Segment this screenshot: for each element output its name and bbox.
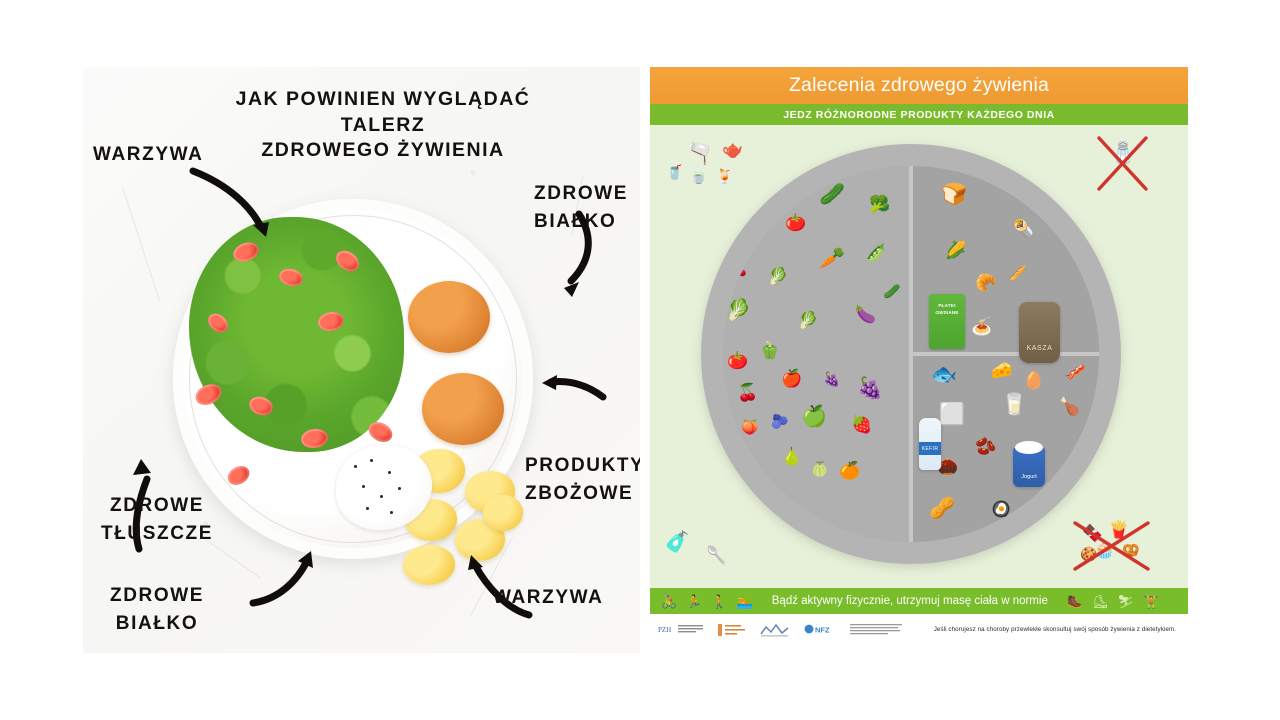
salt-shaker-icon-crossed: 🧂 [1102, 137, 1144, 191]
chart-logo [760, 623, 790, 637]
food-fish: 🐟 [931, 364, 957, 385]
svg-text:NFZ: NFZ [815, 626, 830, 635]
nordic-walking-icon: 🚶 [711, 595, 727, 608]
eu-program-logo [850, 623, 904, 636]
poster-body: 🫗 🫖 🥤 🍵 🍹 🧂 🧴 🥄 🍫 [650, 125, 1188, 588]
food-roll: 🥖 [1009, 266, 1026, 280]
food-meat: 🥓 [1065, 364, 1086, 381]
arrow-protein-bottom [253, 561, 307, 603]
food-strawberry: 🍓 [851, 416, 872, 433]
runner-icon: 🏃 [686, 595, 702, 608]
plate-divider-horizontal [911, 352, 1099, 356]
yogurt-tub: Jogurt [1013, 448, 1045, 487]
screenshot-root: JAK POWINIEN WYGLĄDAĆ TALERZ ZDROWEGO ŻY… [0, 0, 1280, 720]
food-carrot: 🥕 [819, 248, 845, 269]
food-cucumber: 🥒 [819, 184, 845, 205]
food-beetroot: 🫐 [737, 228, 758, 245]
label-vegetables-top: WARZYWA [93, 142, 203, 167]
food-cheese: 🧀 [991, 362, 1012, 379]
food-tomato: 🍅 [785, 214, 806, 231]
plate-half-vegetables-fruits [723, 166, 911, 542]
food-blueberries: 🫐 [771, 414, 788, 428]
label-vegetables-bottom: WARZYWA [493, 585, 603, 610]
food-eggplant: 🍆 [855, 306, 876, 323]
nfz-logo: NFZ [804, 623, 836, 636]
ministry-logo [718, 623, 746, 637]
food-bun: 🥐 [975, 274, 996, 291]
food-beans: 🫘 [975, 438, 996, 455]
label-fats-left: ZDROWE TŁUSZCZE [101, 492, 213, 547]
arrowhead [133, 459, 151, 475]
food-corn: 🌽 [945, 242, 966, 259]
arrow-grains-right [551, 382, 603, 397]
food-curd-cheese: ⬜ [939, 404, 965, 425]
grain-box-oatflakes: PŁATKI OWSIANE [929, 294, 965, 349]
food-eggs: 🥚 [1023, 372, 1044, 389]
healthy-plate-photo: JAK POWINIEN WYGLĄDAĆ TALERZ ZDROWEGO ŻY… [83, 67, 640, 653]
svg-text:PZH: PZH [658, 626, 671, 634]
cyclist-icon: 🚴 [661, 595, 677, 608]
footer-note: Jeśli chorujesz na choroby przewlekłe sk… [934, 626, 1180, 633]
arrowhead [253, 222, 269, 237]
label-protein-bottom: ZDROWE BIAŁKO [110, 582, 204, 637]
label-grains-right: PRODUKTY ZBOŻOWE [525, 452, 640, 507]
grain-sack-kasza: KASZA [1019, 302, 1060, 363]
activity-icons-right: 🥾 ⛸ ⛷ 🏋 [1067, 595, 1159, 608]
food-grapes: 🍇 [857, 378, 883, 399]
food-broccoli: 🥬 [767, 268, 788, 285]
food-cabbage: 🥬 [725, 300, 751, 321]
food-bread: 🍞 [941, 184, 967, 205]
arrowhead [542, 375, 557, 390]
activity-bar-text: Bądź aktywny fizycznie, utrzymuj masę ci… [772, 595, 1048, 607]
swimmer-icon: 🏊 [737, 595, 753, 608]
arrow-vegetables-top [193, 171, 261, 227]
food-walnuts: 🥜 [929, 498, 955, 519]
food-pasta-whole: 🌯 [1013, 220, 1034, 237]
food-radish: 🍒 [731, 262, 748, 276]
poster-header: Zalecenia zdrowego żywienia [650, 67, 1188, 104]
skater-icon: ⛸ [1092, 595, 1109, 608]
food-lettuce: 🥬 [797, 312, 818, 329]
food-cauliflower: 🥦 [869, 196, 890, 213]
food-apple-green: 🍏 [801, 406, 827, 427]
poster-plate: 🥒 🥦 🍅 🌿 🫐 🍒 🥬 🥕 🫛 🥬 🥬 🍆 🫑 🍅 🥒 [701, 144, 1121, 564]
food-milk-glass: 🥛 [1001, 394, 1027, 415]
nutrition-poster: Zalecenia zdrowego żywienia JEDZ RÓŻNORO… [650, 67, 1188, 645]
food-buckwheat: 🍝 [971, 318, 992, 335]
hiker-icon: 🥾 [1067, 595, 1083, 608]
food-green-beans: 🫛 [865, 244, 886, 261]
yogurt-label: Jogurt [1021, 474, 1037, 480]
activity-icons-left: 🚴 🏃 🚶 🏊 [661, 595, 753, 608]
food-spinach: 🌿 [759, 202, 776, 216]
plate-inner: 🥒 🥦 🍅 🌿 🫐 🍒 🥬 🥕 🫛 🥬 🥬 🍆 🫑 🍅 🥒 [723, 166, 1099, 542]
food-orange: 🍊 [839, 462, 860, 479]
food-bell-pepper: 🫑 [759, 342, 780, 359]
skier-icon: ⛷ [1118, 595, 1135, 608]
food-cherries: 🍒 [737, 384, 758, 401]
kefir-label: KEFIR [919, 442, 941, 455]
page-title: JAK POWINIEN WYGLĄDAĆ TALERZ ZDROWEGO ŻY… [198, 87, 568, 164]
pzh-logo: PZH [658, 623, 704, 636]
food-pear: 🍐 [781, 448, 802, 465]
food-boiled-egg: 🍳 [989, 502, 1015, 523]
poster-subtitle: JEDZ RÓŻNORODNE PRODUKTY KAŻDEGO DNIA [783, 109, 1055, 121]
grain-box-label: PŁATKI OWSIANE [935, 303, 958, 315]
food-chicken-leg: 🍗 [1059, 398, 1080, 415]
food-peach: 🍑 [741, 420, 758, 434]
food-raspberry: 🍇 [823, 372, 840, 386]
food-zucchini: 🥒 [883, 284, 900, 298]
food-grape: 🍈 [811, 462, 828, 476]
grain-sack-label: KASZA [1027, 345, 1053, 352]
label-protein-right: ZDROWE BIAŁKO [534, 180, 628, 235]
food-tomato: 🍅 [727, 352, 748, 369]
activity-bar: 🚴 🏃 🚶 🏊 Bądź aktywny fizycznie, utrzymuj… [650, 588, 1188, 614]
food-apple-red: 🍎 [781, 370, 802, 387]
arrowhead [468, 555, 483, 570]
poster-subheader: JEDZ RÓŻNORODNE PRODUKTY KAŻDEGO DNIA [650, 104, 1188, 125]
kefir-bottle: KEFIR [919, 418, 941, 470]
poster-footer: PZH NFZ [650, 614, 1188, 645]
gym-icon: 🏋 [1143, 595, 1159, 608]
poster-title: Zalecenia zdrowego żywienia [789, 74, 1049, 97]
